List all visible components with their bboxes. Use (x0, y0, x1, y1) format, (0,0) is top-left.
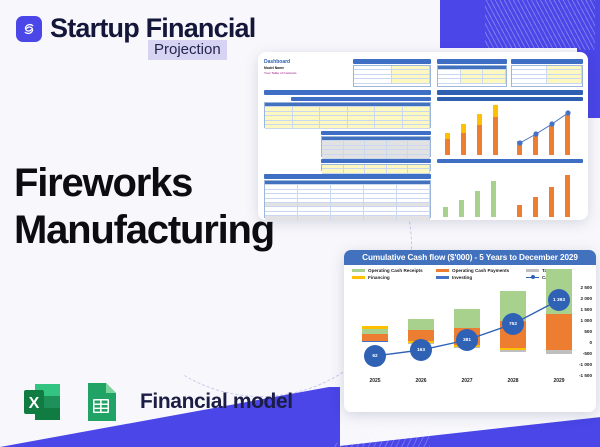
dash-header-cac (321, 159, 431, 163)
dash-header-working-capital (511, 59, 583, 64)
dash-table-core-financials (264, 180, 431, 218)
data-label-2025: 62 (364, 345, 386, 367)
x-tick-2026: 2026 (406, 378, 436, 384)
chart-bars: 62 163 381 752 1 393 (350, 284, 566, 374)
brand-badge: Projection (148, 40, 227, 60)
data-label-2026: 163 (410, 339, 432, 361)
legend-item-operating-cash-payments: Operating Cash Payments (436, 268, 526, 273)
dash-table-product (353, 65, 431, 87)
dash-mini-chart-cashflow (437, 167, 507, 217)
y-tick: -1 000 (568, 362, 592, 367)
dash-mini-chart-profitability (511, 103, 583, 155)
dash-table-revenue-volume (264, 102, 431, 128)
legend-item-operating-cash-receipts: Operating Cash Receipts (352, 268, 436, 273)
dash-table-unit-price (321, 136, 431, 157)
legend-label: Financing (368, 275, 390, 280)
dash-header-product-revenue (353, 59, 431, 64)
legend-swatch-icon (526, 269, 539, 272)
dash-mini-chart-revenue (437, 103, 507, 155)
x-tick-2025: 2025 (360, 378, 390, 384)
chart-x-axis: 2025 2026 2027 2028 2029 (350, 378, 566, 390)
legend-swatch-icon (436, 276, 449, 279)
dash-header-revenue-breakdown (437, 97, 583, 101)
x-tick-2027: 2027 (452, 378, 482, 384)
dashboard-preview-card[interactable]: Dashboard Model Name Your Table of Conte… (258, 52, 588, 220)
cumulative-cashflow-chart-card[interactable]: Cumulative Cash flow ($'000) - 5 Years t… (344, 250, 596, 412)
dash-header-core-financials (264, 174, 431, 179)
microsoft-excel-icon: X (18, 378, 66, 426)
footer-formats: X Financial model (18, 378, 293, 426)
data-label-2029: 1 393 (548, 289, 570, 311)
x-tick-2028: 2028 (498, 378, 528, 384)
dash-table-wc (511, 65, 583, 87)
page-title: Fireworks Manufacturing (14, 160, 274, 254)
dash-header-unit-price (321, 131, 431, 135)
x-tick-2029: 2029 (544, 378, 574, 384)
dash-header-revenue-volume (291, 97, 431, 101)
legend-swatch-icon (352, 269, 365, 272)
dash-header-cash-flow (437, 159, 583, 163)
legend-label: Investing (452, 275, 472, 280)
footer-label: Financial model (140, 390, 293, 414)
chart-plot-area: 2 500 2 000 1 500 1 000 500 0 -500 -1 00… (344, 284, 596, 392)
dash-header-summary-cash (437, 90, 583, 95)
dash-table-cost (437, 65, 507, 87)
legend-line-icon (526, 277, 539, 278)
chart-title: Cumulative Cash flow ($'000) - 5 Years t… (344, 250, 596, 265)
google-sheets-icon (76, 378, 124, 426)
dashboard-preview-title: Dashboard (264, 59, 290, 65)
svg-text:X: X (29, 395, 40, 412)
headline-line-1: Fireworks (14, 160, 274, 207)
legend-item-investing: Investing (436, 275, 526, 280)
legend-swatch-icon (436, 269, 449, 272)
data-label-2028: 752 (502, 313, 524, 335)
dash-header-growth-supplier (264, 90, 431, 95)
dash-table-cac (321, 164, 431, 171)
legend-item-financing: Financing (352, 275, 436, 280)
headline-line-2: Manufacturing (14, 207, 274, 254)
decor-top-rays (485, 0, 595, 50)
legend-label: Operating Cash Payments (452, 268, 509, 273)
poster-canvas: Startup Financial Projection Fireworks M… (0, 0, 600, 447)
legend-label: Operating Cash Receipts (368, 268, 423, 273)
dash-header-cost (437, 59, 507, 64)
circular-e-logo-icon (16, 16, 42, 42)
legend-swatch-icon (352, 276, 365, 279)
dashboard-preview-content: Dashboard Model Name Your Table of Conte… (261, 55, 585, 217)
dash-mini-chart-cumulative (511, 167, 583, 217)
dashboard-preview-link[interactable]: Your Table of Contents (264, 71, 297, 75)
data-label-2027: 381 (456, 329, 478, 351)
dashboard-preview-subtitle: Model Name (264, 66, 284, 70)
